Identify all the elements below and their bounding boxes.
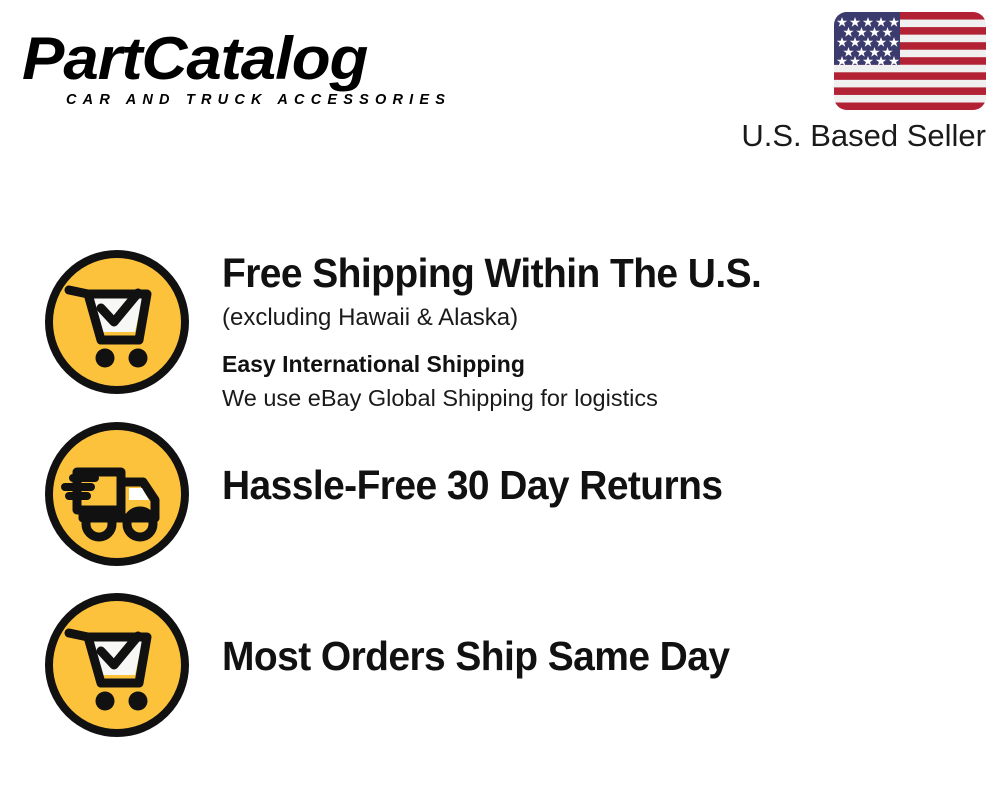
feature-title: Free Shipping Within The U.S. (222, 250, 961, 297)
delivery-truck-icon (43, 420, 191, 568)
brand-wordmark: PartCatalog (22, 28, 520, 90)
feature-text-block: Most Orders Ship Same Day (222, 591, 1000, 680)
feature-sub-heading: Easy International Shipping (222, 349, 1000, 380)
feature-row: Free Shipping Within The U.S. (excluding… (0, 248, 1000, 414)
feature-title: Most Orders Ship Same Day (222, 633, 961, 680)
brand-logo[interactable]: PartCatalog CAR AND TRUCK ACCESSORIES (22, 28, 492, 108)
feature-row: Most Orders Ship Same Day (0, 591, 1000, 739)
us-flag-icon (834, 12, 986, 110)
feature-note: (excluding Hawaii & Alaska) (222, 301, 1000, 335)
shopping-cart-check-icon (43, 248, 191, 396)
us-based-seller-badge: U.S. Based Seller (714, 12, 986, 153)
shopping-cart-check-icon (43, 591, 191, 739)
feature-row: Hassle-Free 30 Day Returns (0, 420, 1000, 568)
brand-tagline: CAR AND TRUCK ACCESSORIES (66, 92, 492, 108)
feature-text-block: Hassle-Free 30 Day Returns (222, 420, 1000, 509)
feature-text-block: Free Shipping Within The U.S. (excluding… (222, 248, 1000, 414)
us-based-seller-label: U.S. Based Seller (714, 119, 986, 153)
feature-title: Hassle-Free 30 Day Returns (222, 462, 961, 509)
feature-sub-text: We use eBay Global Shipping for logistic… (222, 382, 1000, 414)
page-header: PartCatalog CAR AND TRUCK ACCESSORIES (0, 0, 1000, 175)
